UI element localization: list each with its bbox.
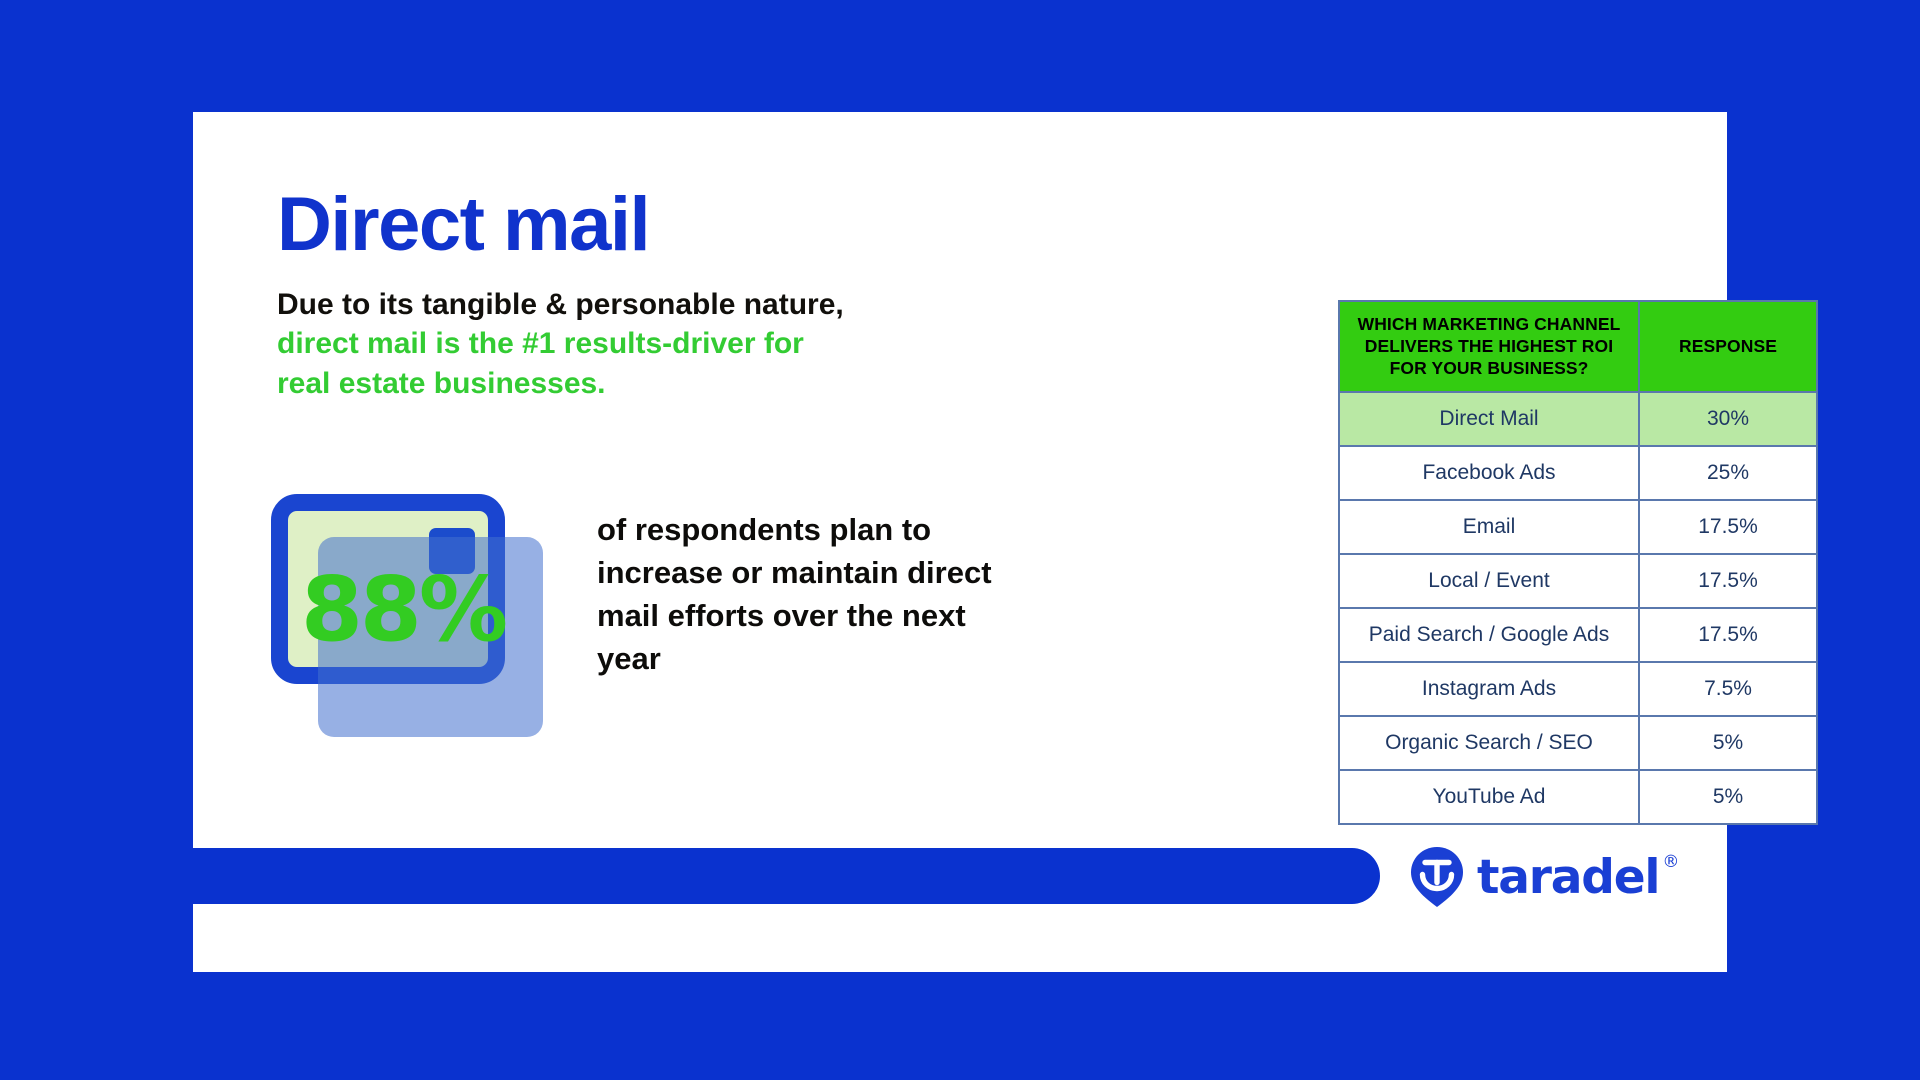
cell-response: 30% [1639,392,1817,446]
envelope-postcard-icon: 88% [265,472,595,742]
table-row: Local / Event 17.5% [1339,554,1817,608]
cell-response: 17.5% [1639,500,1817,554]
table-row: Email 17.5% [1339,500,1817,554]
registered-trademark-icon: ® [1662,852,1679,872]
table-row: Facebook Ads 25% [1339,446,1817,500]
cell-channel: YouTube Ad [1339,770,1639,824]
cell-response: 17.5% [1639,554,1817,608]
table-head: WHICH MARKETING CHANNEL DELIVERS THE HIG… [1339,301,1817,392]
infographic-canvas: Direct mail Due to its tangible & person… [0,0,1920,1080]
cell-response: 5% [1639,716,1817,770]
column-header-channel: WHICH MARKETING CHANNEL DELIVERS THE HIG… [1339,301,1639,392]
cell-response: 7.5% [1639,662,1817,716]
cell-channel: Paid Search / Google Ads [1339,608,1639,662]
cell-channel: Local / Event [1339,554,1639,608]
table-row: Instagram Ads 7.5% [1339,662,1817,716]
content-card: Direct mail Due to its tangible & person… [193,112,1727,972]
taradel-pin-icon [1408,846,1466,908]
cell-response: 17.5% [1639,608,1817,662]
cell-channel: Email [1339,500,1639,554]
table-row: Paid Search / Google Ads 17.5% [1339,608,1817,662]
left-column: Direct mail Due to its tangible & person… [277,187,1087,403]
table-header-row: WHICH MARKETING CHANNEL DELIVERS THE HIG… [1339,301,1817,392]
column-header-response: RESPONSE [1639,301,1817,392]
table-row: YouTube Ad 5% [1339,770,1817,824]
cell-channel: Organic Search / SEO [1339,716,1639,770]
table-row: Organic Search / SEO 5% [1339,716,1817,770]
logo-wordmark: taradel [1477,854,1659,901]
stat-description: of respondents plan to increase or maint… [597,508,997,680]
roi-response-table: WHICH MARKETING CHANNEL DELIVERS THE HIG… [1338,300,1818,825]
stat-percent: 88% [301,565,601,654]
subheading-line-2: direct mail is the #1 results-driver for [277,324,1087,363]
cell-response: 5% [1639,770,1817,824]
stat-block: 88% of respondents plan to increase or m… [265,472,1095,752]
cell-channel: Instagram Ads [1339,662,1639,716]
footer-accent-bar [193,848,1380,904]
cell-response: 25% [1639,446,1817,500]
cell-channel: Direct Mail [1339,392,1639,446]
subheading-line-1: Due to its tangible & personable nature, [277,285,1087,324]
taradel-logo: taradel ® [1408,846,1679,908]
subheading: Due to its tangible & personable nature,… [277,285,1087,403]
subheading-line-3: real estate businesses. [277,364,1087,403]
table-body: Direct Mail 30% Facebook Ads 25% Email 1… [1339,392,1817,824]
cell-channel: Facebook Ads [1339,446,1639,500]
table-row: Direct Mail 30% [1339,392,1817,446]
page-title: Direct mail [277,187,1087,263]
